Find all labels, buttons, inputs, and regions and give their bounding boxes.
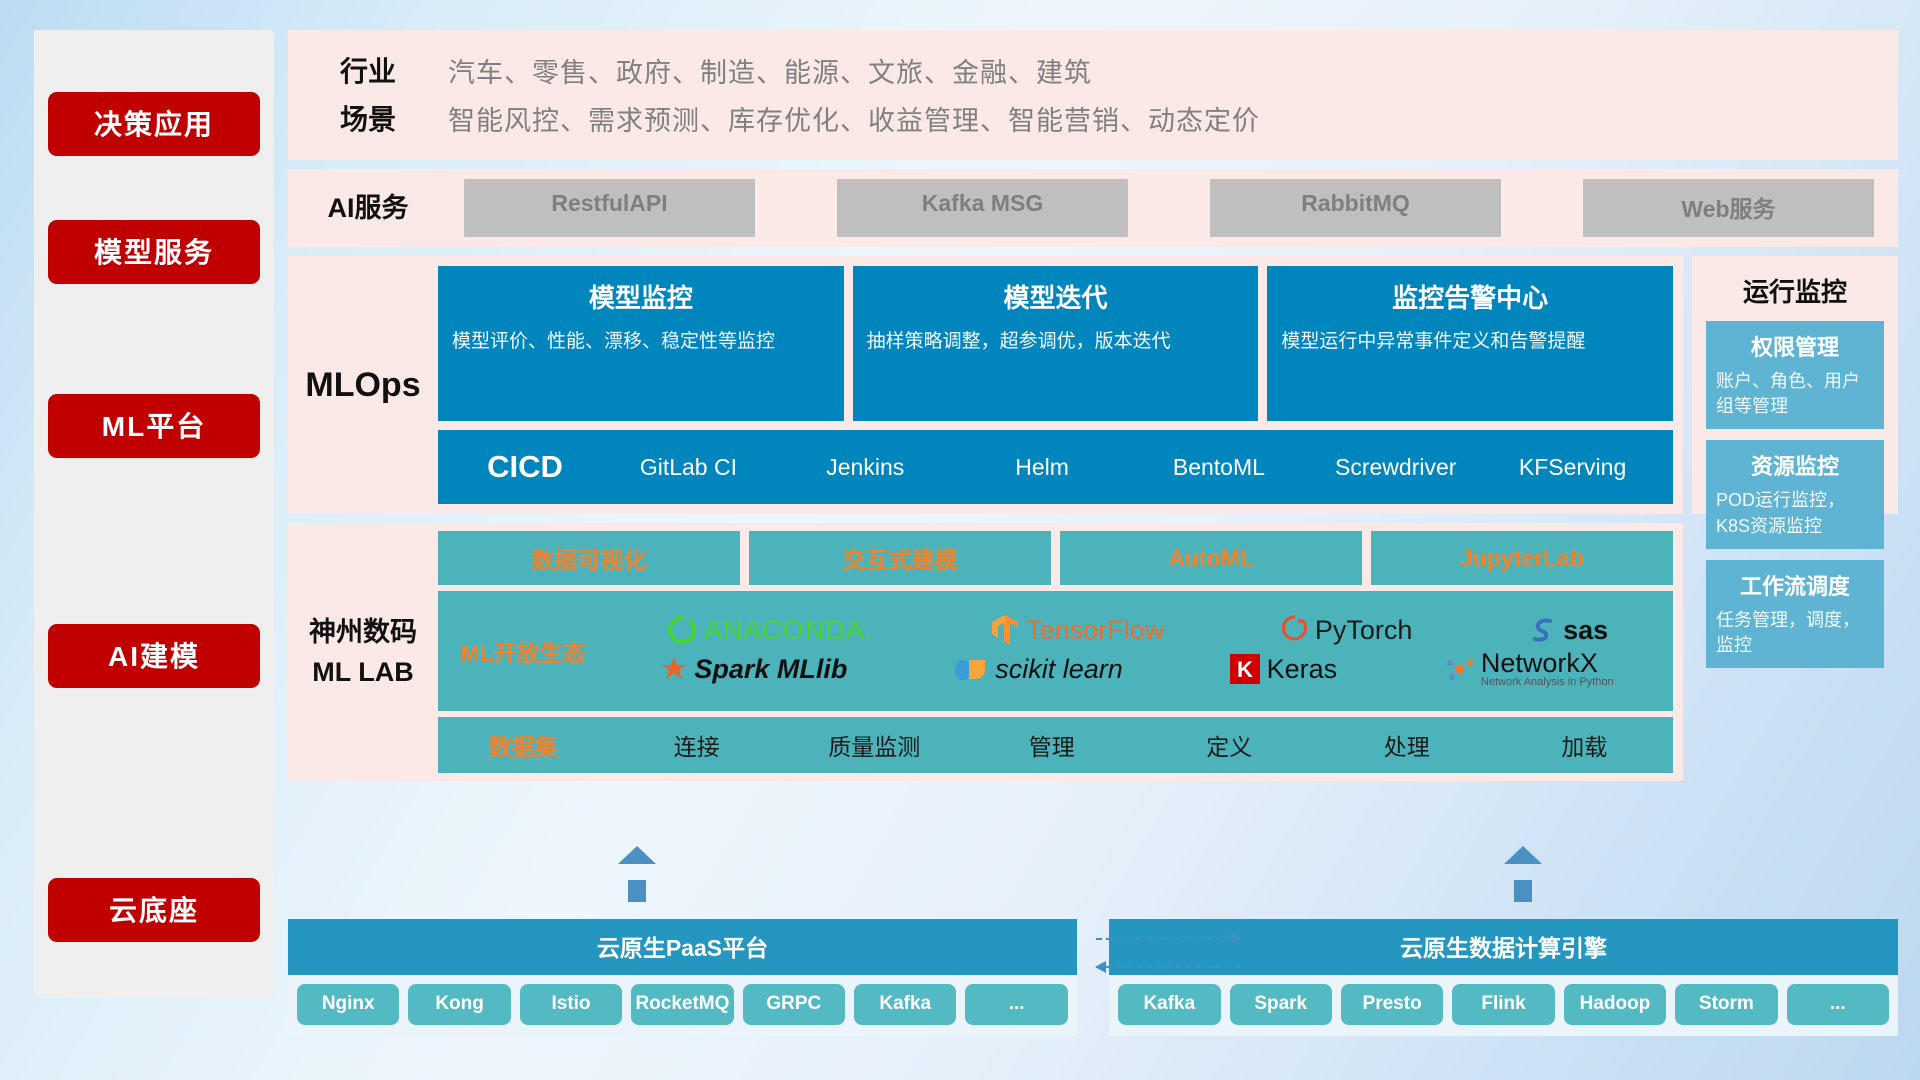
- card-desc: 模型运行中异常事件定义和告警提醒: [1281, 328, 1659, 356]
- keras-icon: K: [1230, 654, 1260, 684]
- bidirectional-link: [1096, 938, 1241, 994]
- anaconda-label: ANACONDA.: [704, 615, 874, 646]
- paas-chip-grpc[interactable]: GRPC: [743, 984, 845, 1025]
- cicd-item-helm[interactable]: Helm: [954, 455, 1131, 479]
- mlops-cards: 模型监控 模型评价、性能、漂移、稳定性等监控 模型迭代 抽样策略调整，超参调优，…: [438, 266, 1673, 421]
- card-title: 资源监控: [1716, 449, 1874, 481]
- scenario-label: 场景: [288, 98, 448, 138]
- architecture-diagram: 决策应用 模型服务 ML平台 AI建模 云底座 行业 汽车、零售、政府、制造、能…: [0, 0, 1920, 1080]
- scenario-values: 智能风控、需求预测、库存优化、收益管理、智能营销、动态定价: [448, 99, 1260, 138]
- cicd-bar: CICD GitLab CI Jenkins Helm BentoML Scre…: [438, 430, 1673, 504]
- pytorch-label: PyTorch: [1315, 615, 1413, 646]
- scikit-learn-logo: scikit learn: [954, 654, 1123, 685]
- lab-tab-jupyterlab[interactable]: JupyterLab: [1371, 531, 1673, 585]
- ml-ecosystem-row: ML开放生态 ANACONDA.: [438, 591, 1673, 711]
- layer-rail: 决策应用 模型服务 ML平台 AI建模 云底座: [34, 30, 274, 998]
- keras-logo: K Keras: [1230, 654, 1338, 685]
- tensorflow-logo: TensorFlow: [991, 614, 1164, 646]
- rail-item-cloud-base[interactable]: 云底座: [48, 878, 260, 942]
- arrow-up-paas-icon: [618, 846, 656, 888]
- mlops-card-alert-center[interactable]: 监控告警中心 模型运行中异常事件定义和告警提醒: [1267, 266, 1673, 421]
- paas-chip-kong[interactable]: Kong: [408, 984, 510, 1025]
- scikit-learn-icon: [954, 656, 988, 682]
- ml-lab-row: 神州数码 ML LAB 数据可视化 交互式建模 AutoML JupyterLa…: [288, 523, 1898, 781]
- industry-label: 行业: [288, 50, 448, 90]
- cloud-paas-chips: Nginx Kong Istio RocketMQ GRPC Kafka ...: [288, 975, 1077, 1036]
- cicd-item-bentoml[interactable]: BentoML: [1130, 455, 1307, 479]
- anaconda-logo: ANACONDA.: [667, 615, 874, 646]
- dataset-item-process[interactable]: 处理: [1318, 728, 1496, 762]
- card-title: 模型监控: [452, 278, 830, 315]
- card-desc: 账户、角色、用户组等管理: [1716, 369, 1874, 419]
- engine-chip-presto[interactable]: Presto: [1341, 984, 1443, 1025]
- lab-tab-data-visualization[interactable]: 数据可视化: [438, 531, 740, 585]
- engine-chip-spark[interactable]: Spark: [1230, 984, 1332, 1025]
- ml-lab-label-line1: 神州数码: [288, 612, 438, 653]
- spark-star-icon: [661, 656, 687, 682]
- cicd-item-kfserving[interactable]: KFServing: [1484, 455, 1661, 479]
- rail-item-model-service[interactable]: 模型服务: [48, 220, 260, 284]
- rail-item-ml-platform[interactable]: ML平台: [48, 394, 260, 458]
- ml-ecosystem-logos: ANACONDA. TensorFlow: [608, 614, 1673, 688]
- mlops-label: MLOps: [288, 360, 438, 411]
- mlops-card-model-iteration[interactable]: 模型迭代 抽样策略调整，超参调优，版本迭代: [853, 266, 1259, 421]
- rail-item-ai-modeling[interactable]: AI建模: [48, 624, 260, 688]
- dataset-item-manage[interactable]: 管理: [963, 728, 1141, 762]
- engine-chip-hadoop[interactable]: Hadoop: [1564, 984, 1666, 1025]
- lab-tab-interactive-modeling[interactable]: 交互式建模: [749, 531, 1051, 585]
- tensorflow-icon: [991, 614, 1019, 646]
- industry-values: 汽车、零售、政府、制造、能源、文旅、金融、建筑: [448, 51, 1092, 90]
- dataset-row: 数据集 连接 质量监测 管理 定义 处理 加载: [438, 717, 1673, 773]
- paas-chip-nginx[interactable]: Nginx: [297, 984, 399, 1025]
- pytorch-icon: [1282, 615, 1308, 645]
- mlops-band: MLOps 模型监控 模型评价、性能、漂移、稳定性等监控 模型迭代 抽样策略调整…: [288, 256, 1683, 514]
- card-title: 监控告警中心: [1281, 278, 1659, 315]
- logo-line-2: Spark MLlib scikit learn: [608, 650, 1667, 688]
- cloud-paas-column: 云原生PaaS平台 Nginx Kong Istio RocketMQ GRPC…: [288, 919, 1077, 1036]
- sas-icon: [1530, 616, 1556, 644]
- card-desc: 抽样策略调整，超参调优，版本迭代: [867, 328, 1245, 356]
- ai-service-chips: RestfulAPI Kafka MSG RabbitMQ Web服务: [448, 179, 1874, 237]
- ml-lab-content: 数据可视化 交互式建模 AutoML JupyterLab ML开放生态: [438, 531, 1673, 773]
- monitor-card-permission[interactable]: 权限管理 账户、角色、用户组等管理: [1706, 321, 1884, 429]
- paas-chip-istio[interactable]: Istio: [520, 984, 622, 1025]
- ai-chip-kafka-msg[interactable]: Kafka MSG: [837, 179, 1128, 237]
- engine-chip-storm[interactable]: Storm: [1675, 984, 1777, 1025]
- networkx-sublabel: Network Analysis in Python: [1481, 677, 1614, 688]
- industry-line: 行业 汽车、零售、政府、制造、能源、文旅、金融、建筑: [288, 50, 1898, 90]
- dataset-item-load[interactable]: 加载: [1496, 728, 1674, 762]
- paas-chip-rocketmq[interactable]: RocketMQ: [631, 984, 733, 1025]
- svg-text:K: K: [1237, 657, 1253, 682]
- dataset-item-quality[interactable]: 质量监测: [786, 728, 964, 762]
- cicd-items: GitLab CI Jenkins Helm BentoML Screwdriv…: [600, 455, 1661, 479]
- industry-scenario-band: 行业 汽车、零售、政府、制造、能源、文旅、金融、建筑 场景 智能风控、需求预测、…: [288, 30, 1898, 160]
- card-title: 权限管理: [1716, 330, 1874, 362]
- ml-lab-band: 神州数码 ML LAB 数据可视化 交互式建模 AutoML JupyterLa…: [288, 523, 1683, 781]
- ai-service-band: AI服务 RestfulAPI Kafka MSG RabbitMQ Web服务: [288, 169, 1898, 247]
- keras-label: Keras: [1267, 654, 1338, 685]
- rail-item-decision-app[interactable]: 决策应用: [48, 92, 260, 156]
- scenario-line: 场景 智能风控、需求预测、库存优化、收益管理、智能营销、动态定价: [288, 98, 1898, 138]
- mlops-card-model-monitoring[interactable]: 模型监控 模型评价、性能、漂移、稳定性等监控: [438, 266, 844, 421]
- scikit-learn-label: scikit learn: [995, 654, 1123, 685]
- paas-chip-kafka[interactable]: Kafka: [854, 984, 956, 1025]
- dash-arrow-left: [1096, 966, 1241, 968]
- mlops-row: MLOps 模型监控 模型评价、性能、漂移、稳定性等监控 模型迭代 抽样策略调整…: [288, 256, 1898, 514]
- arrow-up-data-engine-icon: [1504, 846, 1542, 888]
- ai-chip-web-service[interactable]: Web服务: [1583, 179, 1874, 237]
- networkx-icon: [1444, 655, 1474, 683]
- cicd-item-gitlab-ci[interactable]: GitLab CI: [600, 455, 777, 479]
- spark-mllib-logo: Spark MLlib: [661, 654, 847, 685]
- ai-chip-rabbitmq[interactable]: RabbitMQ: [1210, 179, 1501, 237]
- dash-arrow-right: [1096, 938, 1241, 940]
- engine-chip-flink[interactable]: Flink: [1452, 984, 1554, 1025]
- cicd-title: CICD: [450, 449, 600, 485]
- spark-mllib-label: Spark MLlib: [694, 654, 847, 685]
- tensorflow-label: TensorFlow: [1026, 615, 1164, 646]
- lab-row-spacer: [1692, 523, 1898, 781]
- ml-lab-label-line2: ML LAB: [288, 652, 438, 693]
- ml-ecosystem-label: ML开放生态: [438, 634, 608, 668]
- cicd-item-jenkins[interactable]: Jenkins: [777, 455, 954, 479]
- dataset-label: 数据集: [438, 728, 608, 762]
- dataset-item-define[interactable]: 定义: [1141, 728, 1319, 762]
- cicd-item-screwdriver[interactable]: Screwdriver: [1307, 455, 1484, 479]
- networkx-label: NetworkX: [1481, 650, 1614, 677]
- engine-chip-more[interactable]: ...: [1787, 984, 1889, 1025]
- networkx-text: NetworkX Network Analysis in Python: [1481, 650, 1614, 688]
- dataset-item-connect[interactable]: 连接: [608, 728, 786, 762]
- ml-lab-label: 神州数码 ML LAB: [288, 612, 438, 693]
- networkx-logo: NetworkX Network Analysis in Python: [1444, 650, 1614, 688]
- card-title: 模型迭代: [867, 278, 1245, 315]
- runtime-monitor-panel: 运行监控 权限管理 账户、角色、用户组等管理 资源监控 POD运行监控，K8S资…: [1692, 256, 1898, 514]
- runtime-monitor-title: 运行监控: [1706, 266, 1884, 321]
- pytorch-logo: PyTorch: [1282, 615, 1413, 646]
- card-desc: 模型评价、性能、漂移、稳定性等监控: [452, 328, 830, 356]
- cloud-paas-title: 云原生PaaS平台: [288, 919, 1077, 975]
- ml-lab-tabs: 数据可视化 交互式建模 AutoML JupyterLab: [438, 531, 1673, 585]
- layer-stack: 行业 汽车、零售、政府、制造、能源、文旅、金融、建筑 场景 智能风控、需求预测、…: [288, 30, 1898, 1040]
- ai-chip-restfulapi[interactable]: RestfulAPI: [464, 179, 755, 237]
- logo-line-1: ANACONDA. TensorFlow: [608, 614, 1667, 646]
- mlops-content: 模型监控 模型评价、性能、漂移、稳定性等监控 模型迭代 抽样策略调整，超参调优，…: [438, 266, 1673, 504]
- sas-label: sas: [1563, 615, 1608, 646]
- dataset-items: 连接 质量监测 管理 定义 处理 加载: [608, 728, 1673, 762]
- paas-chip-more[interactable]: ...: [965, 984, 1067, 1025]
- sas-logo: sas: [1530, 615, 1608, 646]
- cloud-base-row: 云原生PaaS平台 Nginx Kong Istio RocketMQ GRPC…: [288, 790, 1898, 1040]
- lab-tab-automl[interactable]: AutoML: [1060, 531, 1362, 585]
- ai-service-label: AI服务: [288, 188, 448, 229]
- anaconda-icon: [667, 615, 697, 645]
